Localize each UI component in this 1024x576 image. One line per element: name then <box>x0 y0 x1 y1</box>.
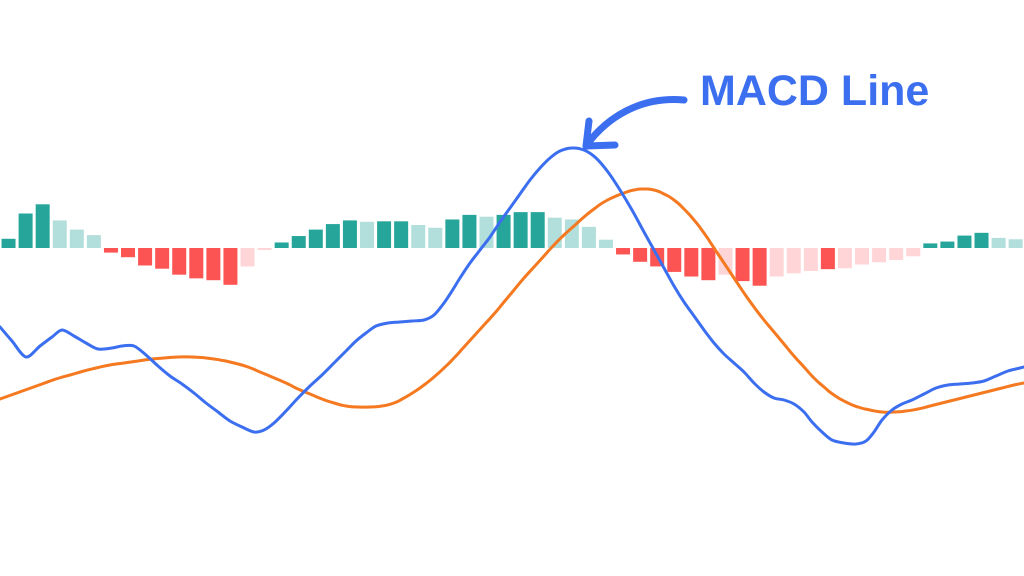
histogram-bar <box>121 248 135 257</box>
histogram-bar <box>223 248 237 285</box>
histogram-bar <box>360 222 374 248</box>
histogram-bar <box>87 235 101 248</box>
histogram-bar <box>206 248 220 280</box>
macd-line-path <box>0 148 1024 444</box>
histogram-bar <box>940 242 954 248</box>
histogram-bar <box>445 219 459 248</box>
histogram-bar <box>684 248 698 277</box>
histogram-bar <box>872 248 886 262</box>
histogram-bar <box>189 248 203 278</box>
histogram-bar <box>411 225 425 248</box>
histogram-bar <box>838 248 852 268</box>
histogram-bar <box>497 215 511 248</box>
histogram-bar <box>275 242 289 248</box>
histogram-bar <box>770 248 784 277</box>
histogram-bar <box>53 220 67 248</box>
histogram-bar <box>514 212 528 248</box>
macd-histogram <box>2 204 1024 285</box>
macd-line-label: MACD Line <box>700 70 929 113</box>
macd-chart: MACD Line <box>0 0 1024 576</box>
histogram-bar <box>616 248 630 254</box>
histogram-bar <box>1009 239 1023 248</box>
histogram-bar <box>975 233 989 248</box>
histogram-bar <box>241 248 255 266</box>
histogram-bar <box>667 248 681 272</box>
macd-line <box>0 148 1024 444</box>
histogram-bar <box>599 240 613 248</box>
signal-line-path <box>0 189 1024 412</box>
histogram-bar <box>155 248 169 269</box>
histogram-bar <box>172 248 186 275</box>
histogram-bar <box>309 230 323 248</box>
histogram-bar <box>906 248 920 256</box>
histogram-bar <box>923 243 937 248</box>
histogram-bar <box>531 212 545 248</box>
histogram-bar <box>377 221 391 248</box>
histogram-bar <box>992 238 1006 248</box>
histogram-bar <box>753 248 767 286</box>
histogram-bar <box>582 227 596 248</box>
histogram-bar <box>804 248 818 271</box>
histogram-bar <box>258 248 272 250</box>
signal-line <box>0 189 1024 412</box>
callout-arrow <box>586 100 684 146</box>
histogram-bar <box>701 248 715 280</box>
histogram-bar <box>36 204 50 248</box>
histogram-bar <box>736 248 750 281</box>
histogram-bar <box>104 248 118 253</box>
histogram-bar <box>855 248 869 265</box>
histogram-bar <box>957 236 971 248</box>
histogram-bar <box>2 239 16 248</box>
histogram-bar <box>821 248 835 269</box>
histogram-bar <box>292 236 306 248</box>
histogram-bar <box>462 215 476 248</box>
histogram-bar <box>889 248 903 260</box>
histogram-bar <box>343 220 357 248</box>
histogram-bar <box>428 228 442 248</box>
histogram-bar <box>138 248 152 265</box>
histogram-bar <box>633 248 647 262</box>
histogram-bar <box>394 221 408 248</box>
histogram-bar <box>787 248 801 273</box>
histogram-bar <box>70 230 84 248</box>
arrow-shaft <box>586 100 684 146</box>
histogram-bar <box>19 214 33 249</box>
histogram-bar <box>326 224 340 248</box>
